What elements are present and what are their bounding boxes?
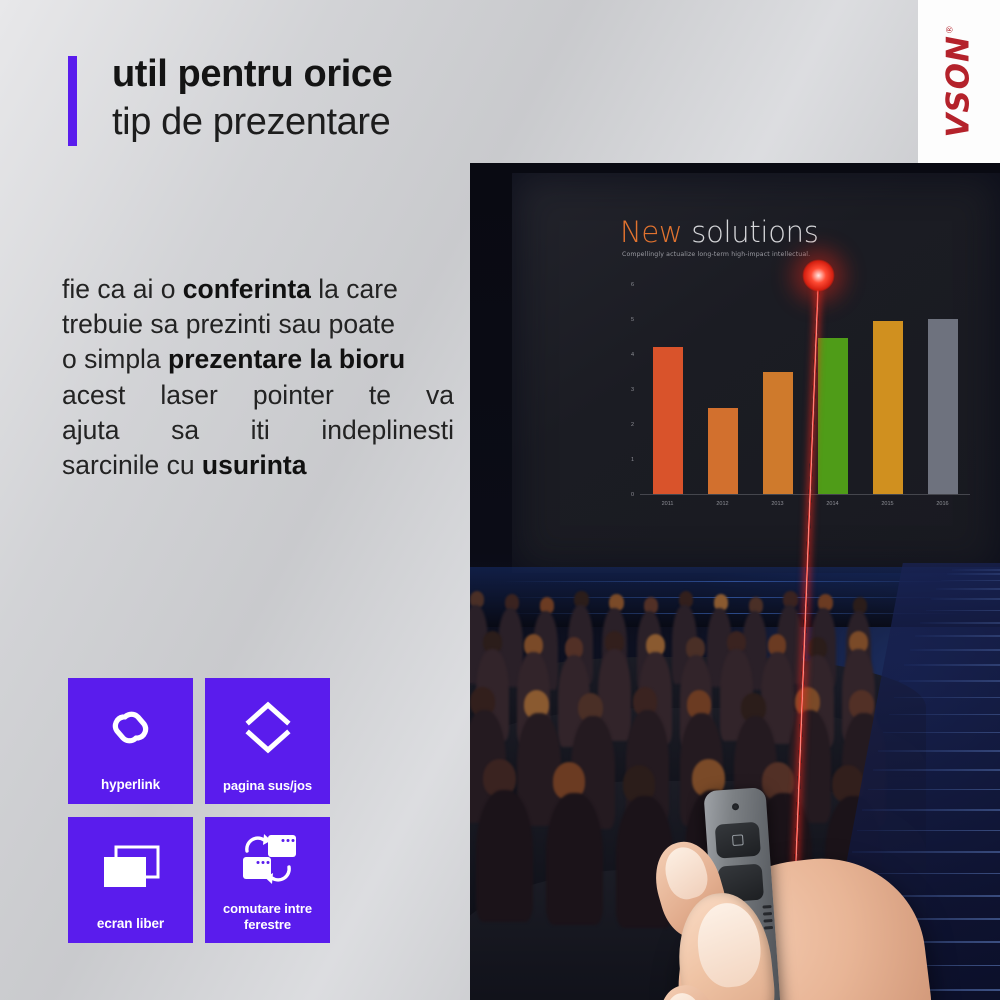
remote-button-top[interactable] (715, 822, 761, 859)
paragraph-line-1: fie ca ai o conferinta la care (62, 272, 454, 307)
aisle-step (941, 580, 1000, 582)
aisle-step (904, 664, 1000, 666)
feature-label: pagina sus/jos (223, 778, 312, 793)
feature-label: ecran liber (97, 916, 164, 932)
chart-bar-wrap (699, 408, 745, 494)
paragraph-line-4: acest laser pointer te va (62, 378, 454, 413)
slide-subtitle: Compellingly actualize long-term high-im… (622, 251, 810, 258)
projection-screen: New solutions Compellingly actualize lon… (512, 173, 1000, 573)
paragraph-text: fie ca ai o (62, 274, 183, 304)
chart-bar-wrap (864, 321, 910, 494)
product-photo: New solutions Compellingly actualize lon… (470, 163, 1000, 1000)
aisle-step (915, 635, 1000, 637)
chart-bar (818, 338, 848, 494)
aisle-step (910, 649, 1000, 651)
chart-bar-wrap (644, 347, 690, 494)
chart-bar (873, 321, 903, 494)
chart-y-tick: 0 (631, 492, 634, 498)
chart-y-tick: 4 (631, 352, 634, 358)
vson-logo: VSON ® (944, 26, 975, 137)
slide-title-rest: solutions (682, 215, 818, 249)
aisle-step (952, 569, 1000, 571)
feature-tile-row-2: ecran liber (68, 817, 340, 943)
chart-bar (763, 372, 793, 495)
chart-bar (653, 347, 683, 494)
aisle-step (878, 750, 1000, 752)
chart-y-tick: 1 (631, 457, 634, 463)
switch-windows-icon (205, 817, 330, 901)
aisle-step (889, 714, 1000, 716)
chart-x-tick: 2015 (864, 501, 910, 507)
chart-x-tick: 2012 (699, 501, 745, 507)
audience-body (546, 793, 603, 925)
feature-label: comutare intre ferestre (205, 901, 330, 932)
vson-logo-text: VSON (944, 35, 975, 138)
feature-tile-switch-windows[interactable]: comutare intre ferestre (205, 817, 330, 943)
slide-bar-chart: 6543210 201120122013201420152016 (620, 285, 970, 535)
paragraph-emphasis: usurinta (202, 450, 307, 480)
slide-title: New solutions (620, 215, 819, 249)
chart-plot-area (640, 285, 970, 495)
page-title: util pentru orice tip de prezentare (112, 52, 512, 146)
audience-body (476, 790, 533, 922)
feature-tile-row-1: hyperlink pagina sus/jos (68, 678, 340, 804)
chart-x-tick: 2013 (754, 501, 800, 507)
chart-x-axis: 201120122013201420152016 (640, 501, 970, 507)
led-indicator-icon (732, 803, 739, 810)
chart-bar-wrap (754, 372, 800, 495)
chart-y-tick: 3 (631, 387, 634, 393)
aisle-step (899, 680, 1000, 682)
chart-y-tick: 6 (631, 282, 634, 288)
aisle-step (883, 732, 1000, 734)
paragraph-line-2: trebuie sa prezinti sau poate (62, 307, 454, 342)
aisle-step (926, 610, 1000, 612)
slide-title-highlight: New (620, 215, 682, 249)
aisle-step (873, 769, 1000, 771)
chart-y-tick: 2 (631, 422, 634, 428)
link-icon (68, 678, 193, 777)
paragraph-line-5: ajuta sa iti indeplinesti (62, 413, 454, 448)
feature-tiles: hyperlink pagina sus/jos (68, 678, 340, 956)
feature-tile-blank-screen[interactable]: ecran liber (68, 817, 193, 943)
paragraph-emphasis: conferinta (183, 274, 311, 304)
hand-holding-device (652, 775, 982, 1000)
paragraph-emphasis: prezentare la bioru (168, 344, 405, 374)
chart-x-tick: 2016 (919, 501, 965, 507)
feature-tile-page-up-down[interactable]: pagina sus/jos (205, 678, 330, 804)
chart-y-axis: 6543210 (620, 285, 638, 495)
chart-y-tick: 5 (631, 317, 634, 323)
chevron-up-down-icon (205, 678, 330, 778)
laser-dot (802, 259, 835, 292)
aisle-step (936, 588, 1000, 590)
registered-trademark-icon: ® (946, 26, 955, 33)
paragraph-line-3: o simpla prezentare la bioru (62, 342, 454, 377)
aisle-step (894, 697, 1000, 699)
blank-screen-icon (68, 817, 193, 916)
description-paragraph: fie ca ai o conferinta la care trebuie s… (62, 272, 454, 483)
chart-bar (708, 408, 738, 494)
paragraph-text: o simpla (62, 344, 168, 374)
chart-bar (928, 319, 958, 494)
headline-line-2: tip de prezentare (112, 100, 512, 146)
paragraph-text: sarcinile cu (62, 450, 202, 480)
headline-line-1: util pentru orice (112, 52, 512, 96)
headline-accent-bar (68, 56, 77, 146)
aisle-step (947, 573, 1000, 575)
chart-x-tick: 2014 (809, 501, 855, 507)
feature-tile-hyperlink[interactable]: hyperlink (68, 678, 193, 804)
chart-x-tick: 2011 (644, 501, 690, 507)
aisle-step (920, 622, 1000, 624)
aisle-step (931, 598, 1000, 600)
feature-label: hyperlink (101, 777, 160, 793)
stop-square-icon (732, 834, 744, 846)
paragraph-text: la care (311, 274, 398, 304)
chart-bars (640, 285, 970, 494)
brand-logo-panel: VSON ® (918, 0, 1000, 163)
chart-bar-wrap (919, 319, 965, 494)
paragraph-line-6: sarcinile cu usurinta (62, 448, 454, 483)
